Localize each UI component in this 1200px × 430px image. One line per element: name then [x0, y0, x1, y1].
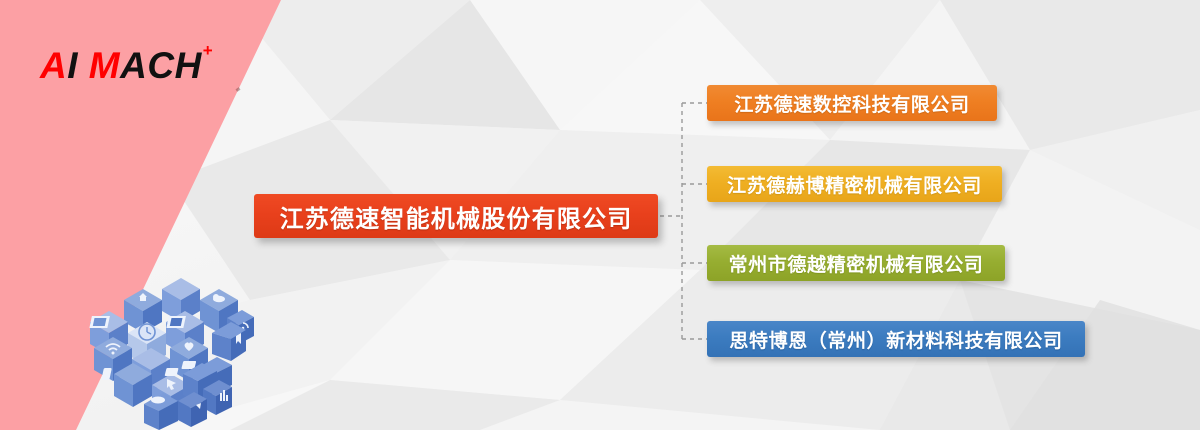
- org-node-child-0[interactable]: 江苏德速数控科技有限公司: [707, 85, 997, 121]
- org-node-child-1[interactable]: 江苏德赫博精密机械有限公司: [707, 166, 1002, 202]
- org-node-child-2[interactable]: 常州市德越精密机械有限公司: [707, 245, 1005, 281]
- logo-letters-ach: ACH: [120, 45, 202, 86]
- org-node-child-3[interactable]: 思特博恩（常州）新材料科技有限公司: [707, 321, 1085, 357]
- cube-chat: [144, 393, 178, 430]
- logo-letter-a: A: [40, 45, 67, 86]
- company-structure-banner: AI MACH+: [0, 0, 1200, 430]
- isometric-cube-cluster: [86, 278, 261, 430]
- logo-letter-i: I: [67, 45, 78, 86]
- logo-plus-icon: +: [203, 41, 213, 60]
- org-node-root[interactable]: 江苏德速智能机械股份有限公司: [254, 194, 658, 238]
- logo-space: [78, 45, 89, 86]
- cube-mobile: [101, 363, 152, 407]
- logo-letter-m: M: [89, 45, 120, 86]
- brand-logo: AI MACH+: [40, 47, 212, 84]
